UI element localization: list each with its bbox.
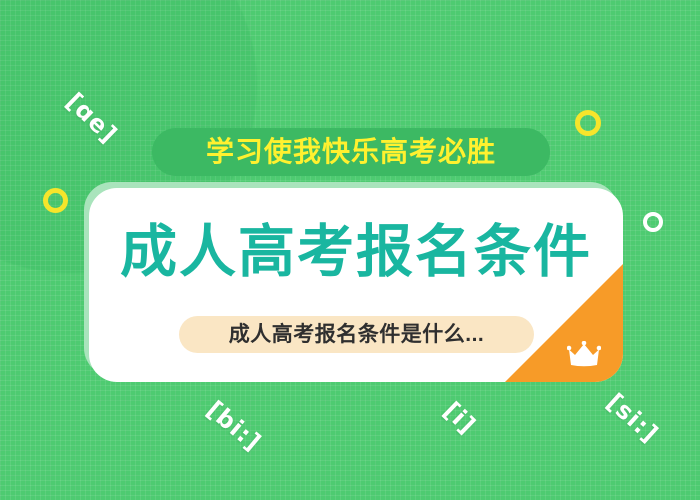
ring-yellow-top-icon (575, 110, 601, 136)
subtitle-pill: 成人高考报名条件是什么... (179, 316, 534, 353)
subtitle-text: 成人高考报名条件是什么... (229, 324, 485, 345)
banner-slogan-text: 学习使我快乐高考必胜 (206, 138, 496, 166)
phonetic-decoration-3: [i] (438, 396, 481, 439)
phonetic-decoration-2: [bi:] (201, 395, 266, 456)
ring-yellow-left-icon (43, 188, 68, 213)
crown-icon (567, 341, 601, 368)
poster-canvas: [ɑe] [bi:] [i] [si:] 学习使我快乐高考必胜 成人高考报名条件… (0, 0, 700, 500)
phonetic-decoration-4: [si:] (601, 388, 664, 448)
ring-white-right-icon (643, 212, 663, 232)
top-banner-pill: 学习使我快乐高考必胜 (152, 128, 550, 176)
main-content-card: 成人高考报名条件 成人高考报名条件是什么... (89, 188, 623, 382)
page-title: 成人高考报名条件 (89, 224, 623, 281)
